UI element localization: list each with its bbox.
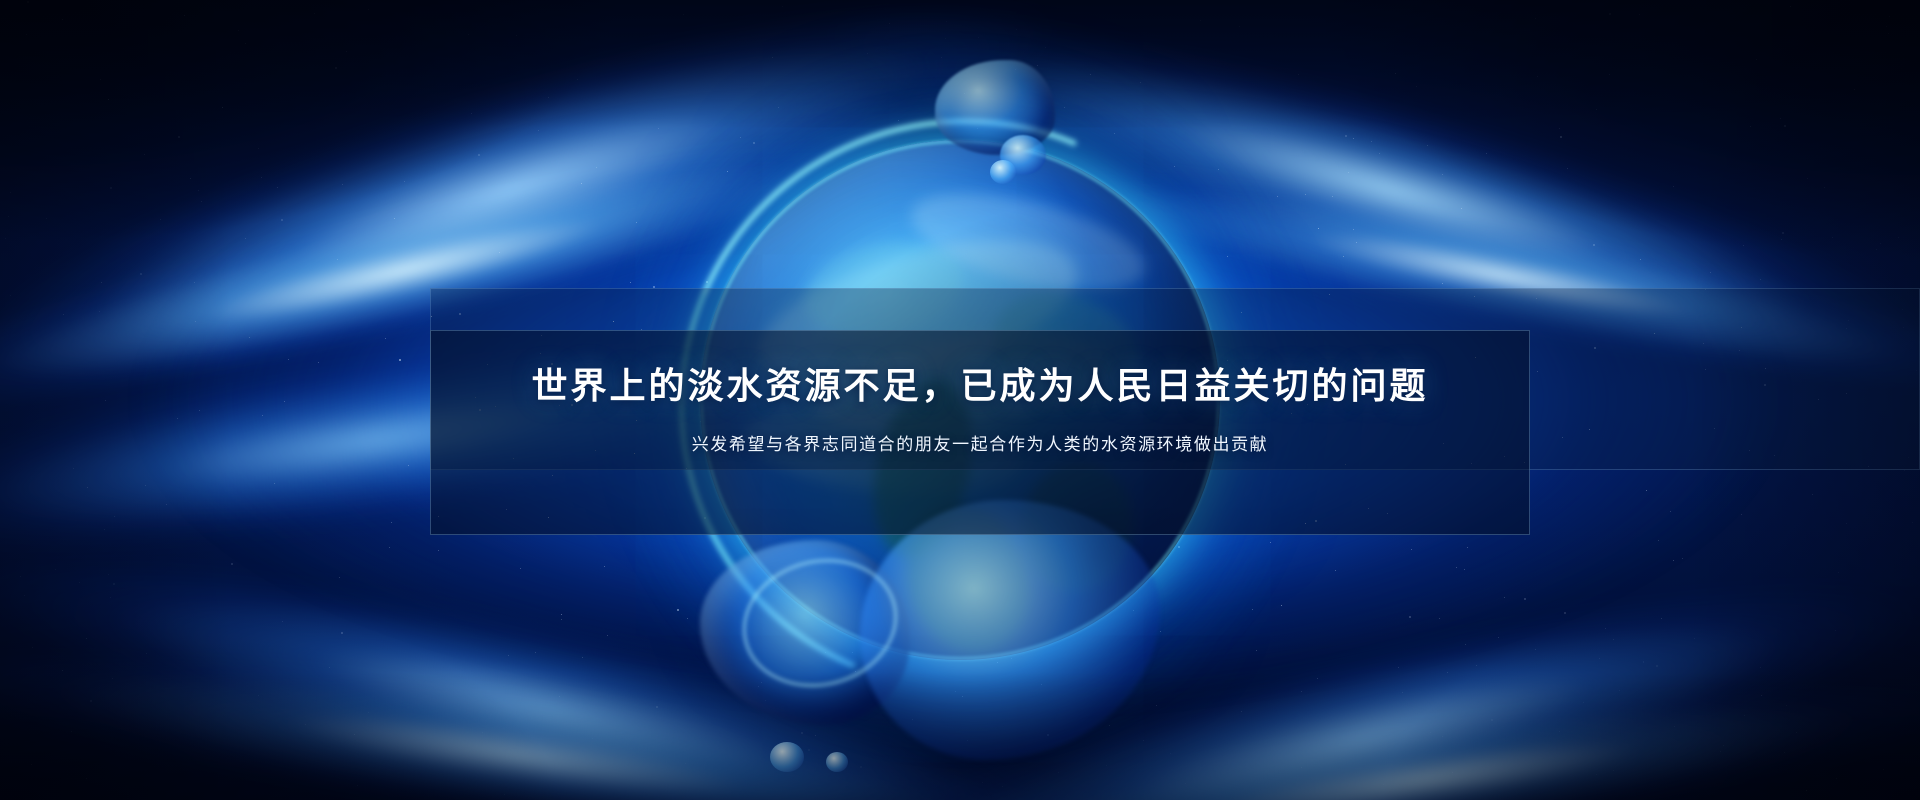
banner-text-panel: 世界上的淡水资源不足，已成为人民日益关切的问题 兴发希望与各界志同道合的朋友一起… bbox=[430, 288, 1530, 535]
banner-subline: 兴发希望与各界志同道合的朋友一起合作为人类的水资源环境做出贡献 bbox=[692, 433, 1269, 459]
banner-headline: 世界上的淡水资源不足，已成为人民日益关切的问题 bbox=[531, 364, 1428, 409]
water-bubble bbox=[770, 742, 804, 772]
water-bubble bbox=[826, 752, 848, 772]
hero-banner: 世界上的淡水资源不足，已成为人民日益关切的问题 兴发希望与各界志同道合的朋友一起… bbox=[0, 0, 1920, 800]
